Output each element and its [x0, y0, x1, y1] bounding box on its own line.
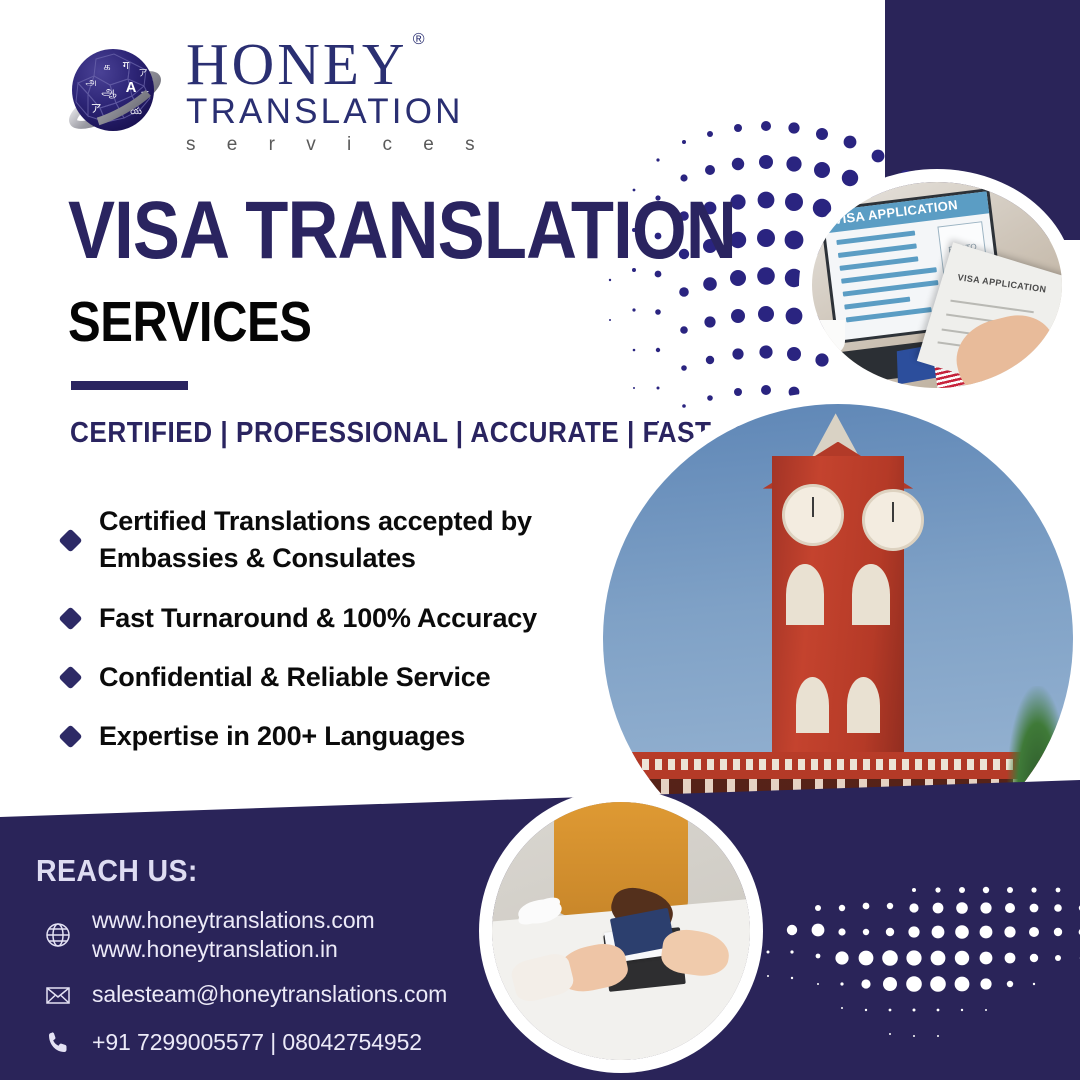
accent-divider-bar — [71, 381, 188, 390]
registered-mark-icon: ® — [413, 32, 428, 47]
svg-text:க: க — [103, 61, 110, 73]
list-item: Confidential & Reliable Service — [62, 659, 642, 696]
feature-text: Certified Translations accepted by Embas… — [99, 503, 569, 578]
passport-consultation-desk-photo — [492, 802, 750, 1060]
brand-name-translation: TRANSLATION — [186, 92, 488, 131]
feature-list: Certified Translations accepted by Embas… — [62, 503, 642, 777]
brand-logo[interactable]: க ग ア அ ஆ A て ア ಕ య HONEY® TRANSLATION s… — [58, 28, 488, 160]
svg-text:ア: ア — [91, 103, 102, 115]
contact-row-phone[interactable]: +91 7299005577 | 08042754952 — [40, 1025, 447, 1061]
contact-row-email[interactable]: salesteam@honeytranslations.com — [40, 977, 447, 1013]
list-item: Fast Turnaround & 100% Accuracy — [62, 600, 642, 637]
feature-text: Fast Turnaround & 100% Accuracy — [99, 600, 537, 637]
phone-icon — [40, 1025, 76, 1061]
visa-screen-title: VISA APPLICATION — [833, 197, 959, 227]
website-url-1[interactable]: www.honeytranslations.com — [92, 906, 375, 935]
halftone-dots-bottom — [760, 880, 1080, 1080]
headline-primary: VISA TRANSLATION — [68, 193, 736, 268]
svg-text:அ: அ — [85, 77, 96, 88]
envelope-icon — [40, 977, 76, 1013]
contact-list: www.honeytranslations.com www.honeytrans… — [40, 906, 447, 1073]
brand-wordmark: HONEY® TRANSLATION s e r v i c e s — [186, 28, 488, 160]
feature-text: Confidential & Reliable Service — [99, 659, 490, 696]
reach-us-heading: REACH US: — [36, 853, 198, 889]
svg-text:ग: ग — [123, 60, 130, 72]
list-item: Certified Translations accepted by Embas… — [62, 503, 642, 578]
diamond-bullet-icon — [58, 725, 82, 749]
globe-languages-icon: க ग ア அ ஆ A て ア ಕ య — [58, 28, 176, 150]
svg-text:ஆ: ஆ — [101, 84, 116, 98]
brand-name-services: s e r v i c e s — [186, 131, 488, 160]
email-text[interactable]: salesteam@honeytranslations.com — [92, 980, 447, 1009]
globe-icon — [40, 917, 76, 953]
brand-name-honey: HONEY® — [186, 36, 407, 92]
poster-canvas: க ग ア அ ஆ A て ア ಕ య HONEY® TRANSLATION s… — [0, 0, 1080, 1080]
list-item: Expertise in 200+ Languages — [62, 718, 642, 755]
contact-row-website[interactable]: www.honeytranslations.com www.honeytrans… — [40, 906, 447, 965]
website-text[interactable]: www.honeytranslations.com www.honeytrans… — [92, 906, 375, 965]
website-url-2[interactable]: www.honeytranslation.in — [92, 935, 375, 964]
diamond-bullet-icon — [58, 528, 82, 552]
visa-paper-title: VISA APPLICATION — [957, 272, 1047, 294]
diamond-bullet-icon — [58, 606, 82, 630]
svg-text:ア: ア — [138, 68, 147, 78]
visa-application-laptop-photo: VISA APPLICATION PHOTO HERE VISA APPLICA… — [812, 182, 1062, 388]
feature-text: Expertise in 200+ Languages — [99, 718, 465, 755]
headline-secondary: SERVICES — [68, 296, 312, 348]
svg-text:A: A — [126, 79, 137, 96]
diamond-bullet-icon — [58, 665, 82, 689]
phone-text[interactable]: +91 7299005577 | 08042754952 — [92, 1028, 422, 1057]
brand-honey-text: HONEY — [186, 31, 407, 97]
